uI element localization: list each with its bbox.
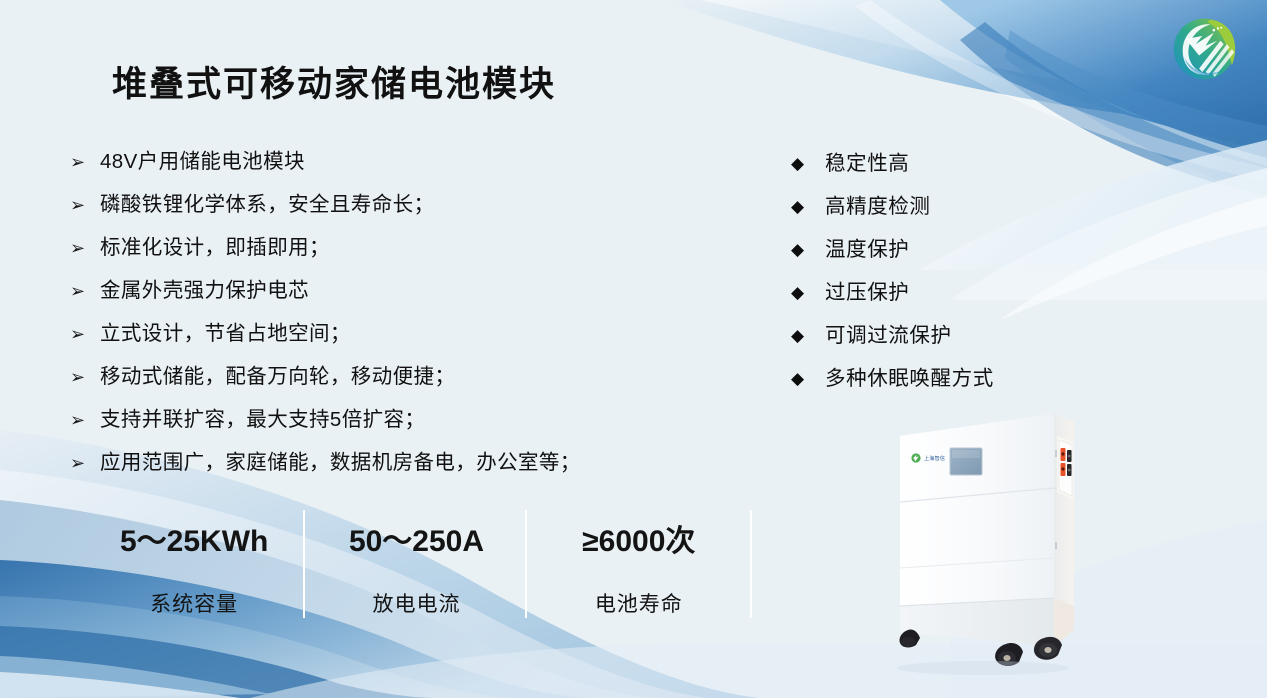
feature-item: ➢ 磷酸铁锂化学体系，安全且寿命长； — [70, 191, 730, 234]
feature-label: 支持并联扩容，最大支持5倍扩容； — [100, 406, 425, 434]
protection-label: 多种休眠唤醒方式 — [825, 365, 994, 393]
protection-label: 可调过流保护 — [825, 322, 952, 350]
spec-stats-strip: 5～25KWh 系统容量 50～250A 放电电流 ≥6000次 电池寿命 — [83, 508, 750, 620]
arrow-bullet-icon: ➢ — [70, 191, 100, 219]
stat-value: 5～25KWh — [120, 516, 268, 560]
protection-item: ◆ 高精度检测 — [791, 193, 1091, 236]
feature-label: 应用范围广，家庭储能，数据机房备电，办公室等； — [100, 449, 581, 477]
stat-divider — [303, 510, 305, 618]
diamond-bullet-icon: ◆ — [791, 193, 825, 221]
arrow-bullet-icon: ➢ — [70, 277, 100, 305]
diamond-bullet-icon: ◆ — [791, 150, 825, 178]
cabinet-brand-text: 上海智信 — [924, 455, 945, 462]
arrow-bullet-icon: ➢ — [70, 234, 100, 262]
diamond-bullet-icon: ◆ — [791, 236, 825, 264]
feature-label: 金属外壳强力保护电芯 — [100, 277, 309, 305]
slide-canvas: 堆叠式可移动家储电池模块 ➢ 48V户用储能电池模块 ➢ 磷酸铁锂化学体系，安全… — [0, 0, 1267, 698]
feature-item: ➢ 金属外壳强力保护电芯 — [70, 277, 730, 320]
arrow-bullet-icon: ➢ — [70, 363, 100, 391]
stat-divider — [750, 510, 752, 618]
feature-item: ➢ 应用范围广，家庭储能，数据机房备电，办公室等； — [70, 449, 730, 492]
diamond-bullet-icon: ◆ — [791, 365, 825, 393]
feature-label: 磷酸铁锂化学体系，安全且寿命长； — [100, 191, 434, 219]
stat-divider — [525, 510, 527, 618]
protection-label: 过压保护 — [825, 279, 909, 307]
protection-item: ◆ 过压保护 — [791, 279, 1091, 322]
stat-label: 电池寿命 — [595, 588, 683, 618]
feature-label: 标准化设计，即插即用； — [100, 234, 330, 262]
protection-label: 温度保护 — [825, 236, 909, 264]
feature-item: ➢ 移动式储能，配备万向轮，移动便捷； — [70, 363, 730, 406]
stat-cell: 50～250A 放电电流 — [305, 508, 527, 620]
feature-list: ➢ 48V户用储能电池模块 ➢ 磷酸铁锂化学体系，安全且寿命长； ➢ 标准化设计… — [70, 148, 730, 492]
stat-value: 50～250A — [349, 516, 484, 560]
feature-item: ➢ 标准化设计，即插即用； — [70, 234, 730, 277]
arrow-bullet-icon: ➢ — [70, 406, 100, 434]
company-logo — [1163, 8, 1245, 90]
protection-label: 稳定性高 — [825, 150, 909, 178]
product-image-battery-cabinet: 上海智信 — [878, 392, 1118, 682]
stat-label: 放电电流 — [372, 588, 460, 618]
stat-cell: ≥6000次 电池寿命 — [528, 508, 750, 620]
page-title: 堆叠式可移动家储电池模块 — [112, 56, 556, 107]
diamond-bullet-icon: ◆ — [791, 322, 825, 350]
diamond-bullet-icon: ◆ — [791, 279, 825, 307]
feature-item: ➢ 48V户用储能电池模块 — [70, 148, 730, 191]
protection-label: 高精度检测 — [825, 193, 931, 221]
feature-label: 48V户用储能电池模块 — [100, 148, 305, 176]
arrow-bullet-icon: ➢ — [70, 148, 100, 176]
stat-label: 系统容量 — [150, 588, 238, 618]
arrow-bullet-icon: ➢ — [70, 320, 100, 348]
feature-label: 立式设计，节省占地空间； — [100, 320, 351, 348]
protection-item: ◆ 稳定性高 — [791, 150, 1091, 193]
stat-cell: 5～25KWh 系统容量 — [83, 508, 305, 620]
feature-label: 移动式储能，配备万向轮，移动便捷； — [100, 363, 455, 391]
feature-item: ➢ 支持并联扩容，最大支持5倍扩容； — [70, 406, 730, 449]
protection-list: ◆ 稳定性高 ◆ 高精度检测 ◆ 温度保护 ◆ 过压保护 ◆ 可调过流保护 ◆ … — [791, 150, 1091, 408]
protection-item: ◆ 可调过流保护 — [791, 322, 1091, 365]
arrow-bullet-icon: ➢ — [70, 449, 100, 477]
stat-value: ≥6000次 — [582, 516, 695, 560]
feature-item: ➢ 立式设计，节省占地空间； — [70, 320, 730, 363]
protection-item: ◆ 温度保护 — [791, 236, 1091, 279]
